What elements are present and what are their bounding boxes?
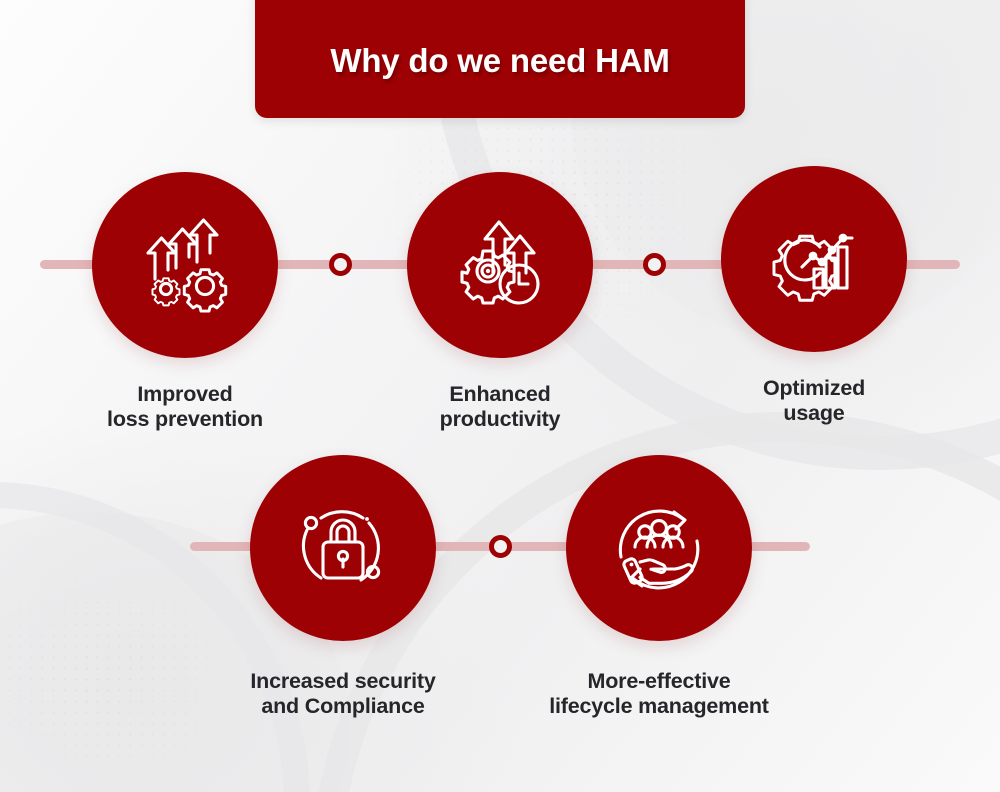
hand-people-cycle-icon xyxy=(607,496,711,600)
item-enhanced-productivity[interactable]: Enhanced productivity xyxy=(407,172,593,433)
icon-circle-3[interactable] xyxy=(721,166,907,352)
item-label-1-line2: loss prevention xyxy=(107,407,263,432)
icon-circle-2[interactable] xyxy=(407,172,593,358)
connector-node-2 xyxy=(643,253,666,276)
item-increased-security-compliance[interactable]: Increased security and Compliance xyxy=(250,455,436,720)
item-label-4: Increased security and Compliance xyxy=(250,669,435,720)
icon-circle-1[interactable] xyxy=(92,172,278,358)
icon-circle-4[interactable] xyxy=(250,455,436,641)
item-label-5: More-effective lifecycle management xyxy=(549,669,768,720)
item-label-5-line1: More-effective xyxy=(549,669,768,694)
item-label-4-line1: Increased security xyxy=(250,669,435,694)
item-label-2-line1: Enhanced xyxy=(440,382,561,407)
arrows-up-gears-icon xyxy=(133,213,237,317)
item-label-1: Improved loss prevention xyxy=(107,382,263,433)
gear-clock-arrows-icon xyxy=(448,213,552,317)
background-dot-pattern-bottom-left xyxy=(0,542,260,792)
item-label-2: Enhanced productivity xyxy=(440,382,561,433)
padlock-orbit-icon xyxy=(291,496,395,600)
connector-node-3 xyxy=(489,535,512,558)
title-banner: Why do we need HAM xyxy=(255,0,745,118)
connector-node-1 xyxy=(329,253,352,276)
gear-bar-chart-icon xyxy=(762,207,866,311)
icon-circle-5[interactable] xyxy=(566,455,752,641)
item-label-3-line1: Optimized xyxy=(763,376,865,401)
item-label-4-line2: and Compliance xyxy=(250,694,435,719)
item-label-1-line1: Improved xyxy=(107,382,263,407)
page-title: Why do we need HAM xyxy=(330,42,669,80)
item-more-effective-lifecycle-management[interactable]: More-effective lifecycle management xyxy=(566,455,752,720)
item-improved-loss-prevention[interactable]: Improved loss prevention xyxy=(92,172,278,433)
item-label-2-line2: productivity xyxy=(440,407,561,432)
infographic-canvas: Why do we need HAM xyxy=(0,0,1000,792)
item-label-3-line2: usage xyxy=(763,401,865,426)
item-label-3: Optimized usage xyxy=(763,376,865,427)
item-label-5-line2: lifecycle management xyxy=(549,694,768,719)
item-optimized-usage[interactable]: Optimized usage xyxy=(721,166,907,427)
